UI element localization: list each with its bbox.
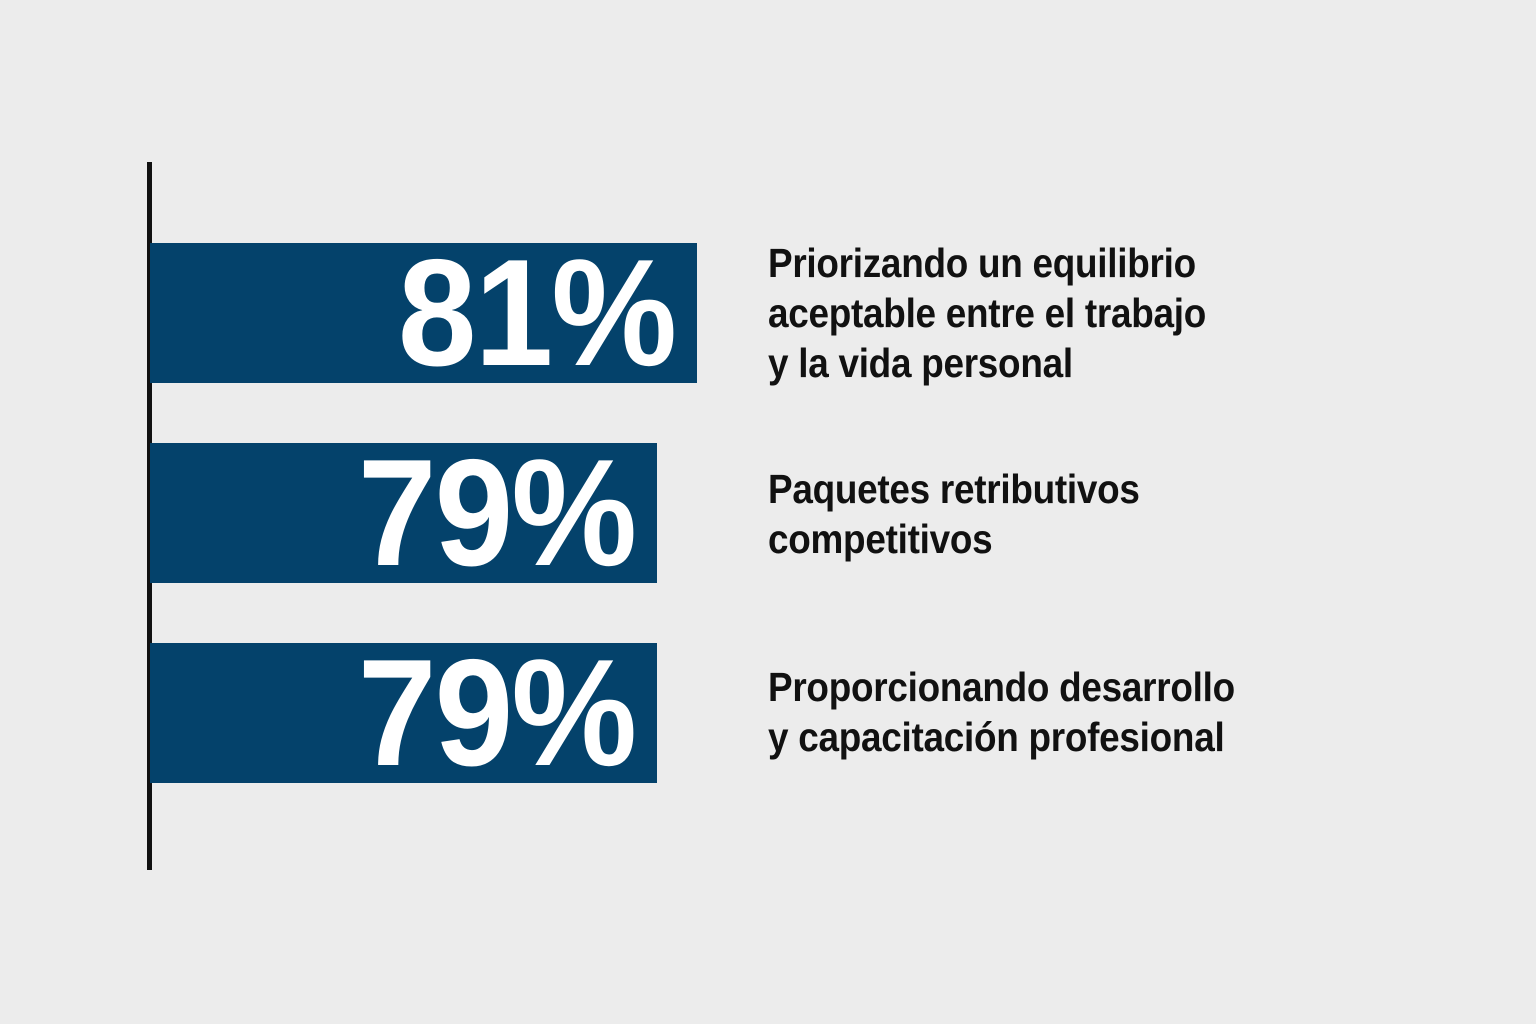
bar-1-category-label: Priorizando un equilibrio aceptable entr… xyxy=(768,238,1206,388)
bar-3[interactable]: 79% xyxy=(150,643,657,783)
bar-2-category-label: Paquetes retributivos competitivos xyxy=(768,464,1140,564)
bar-row: 79% xyxy=(150,643,657,783)
infographic-bar-chart: 81% Priorizando un equilibrio aceptable … xyxy=(0,0,1536,1024)
bar-1-value-label: 81% xyxy=(398,243,675,383)
bar-2[interactable]: 79% xyxy=(150,443,657,583)
bar-1[interactable]: 81% xyxy=(150,243,697,383)
bar-2-value-label: 79% xyxy=(358,443,635,583)
bar-3-value-label: 79% xyxy=(358,643,635,783)
bar-row: 81% xyxy=(150,243,697,383)
bar-row: 79% xyxy=(150,443,657,583)
bar-3-category-label: Proporcionando desarrollo y capacitación… xyxy=(768,662,1235,762)
